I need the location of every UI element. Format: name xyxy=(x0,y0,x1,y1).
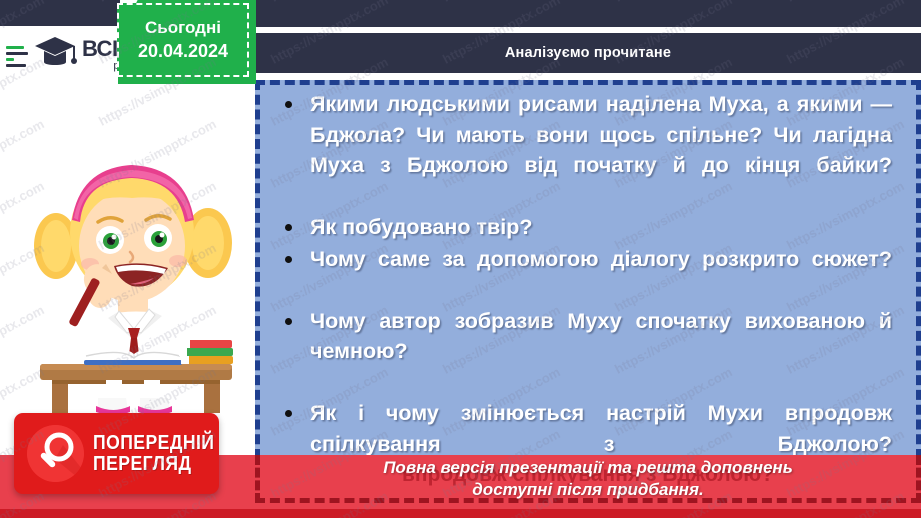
brand-logo[interactable]: ВСІМ pptx xyxy=(0,26,118,84)
top-dark-strip xyxy=(255,0,921,27)
preview-badge-line1: ПОПЕРЕДНІЙ xyxy=(93,433,214,453)
promo-footer-bar xyxy=(0,509,921,518)
preview-badge-line2: ПЕРЕГЛЯД xyxy=(93,454,214,474)
promo-line2: доступні після придбання. xyxy=(255,479,921,501)
date-badge: Сьогодні 20.04.2024 xyxy=(117,3,249,77)
slide-header-bar: Аналізуємо прочитане xyxy=(255,33,921,73)
list-item: Чому автор зобразив Муху спочатку вихова… xyxy=(260,306,916,398)
slide-canvas: ВСІМ pptx Сьогодні 20.04.2024 xyxy=(0,0,921,518)
date-badge-label: Сьогодні xyxy=(145,18,221,38)
magnifier-icon xyxy=(27,425,84,482)
questions-panel: Якими людськими рисами наділена Муха, а … xyxy=(255,80,921,518)
logo-dark-corner xyxy=(0,0,120,26)
graduation-cap-icon xyxy=(32,33,78,78)
questions-list: Якими людськими рисами наділена Муха, а … xyxy=(260,89,916,491)
date-badge-value: 20.04.2024 xyxy=(138,41,228,62)
list-item: Чому саме за допомогою діалогу розкрито … xyxy=(260,244,916,305)
list-item: Як побудовано твір? xyxy=(260,212,916,243)
promo-message: Повна версія презентації та решта доповн… xyxy=(255,455,921,501)
preview-badge-label: ПОПЕРЕДНІЙ ПЕРЕГЛЯД xyxy=(93,433,231,474)
student-at-desk-illustration xyxy=(22,128,246,413)
page-title: Аналізуємо прочитане xyxy=(505,45,671,61)
preview-badge[interactable]: ПОПЕРЕДНІЙ ПЕРЕГЛЯД xyxy=(14,413,219,494)
logo-speed-dashes-icon xyxy=(6,44,28,67)
list-item: Якими людськими рисами наділена Муха, а … xyxy=(260,89,916,211)
promo-line1: Повна версія презентації та решта доповн… xyxy=(255,457,921,479)
